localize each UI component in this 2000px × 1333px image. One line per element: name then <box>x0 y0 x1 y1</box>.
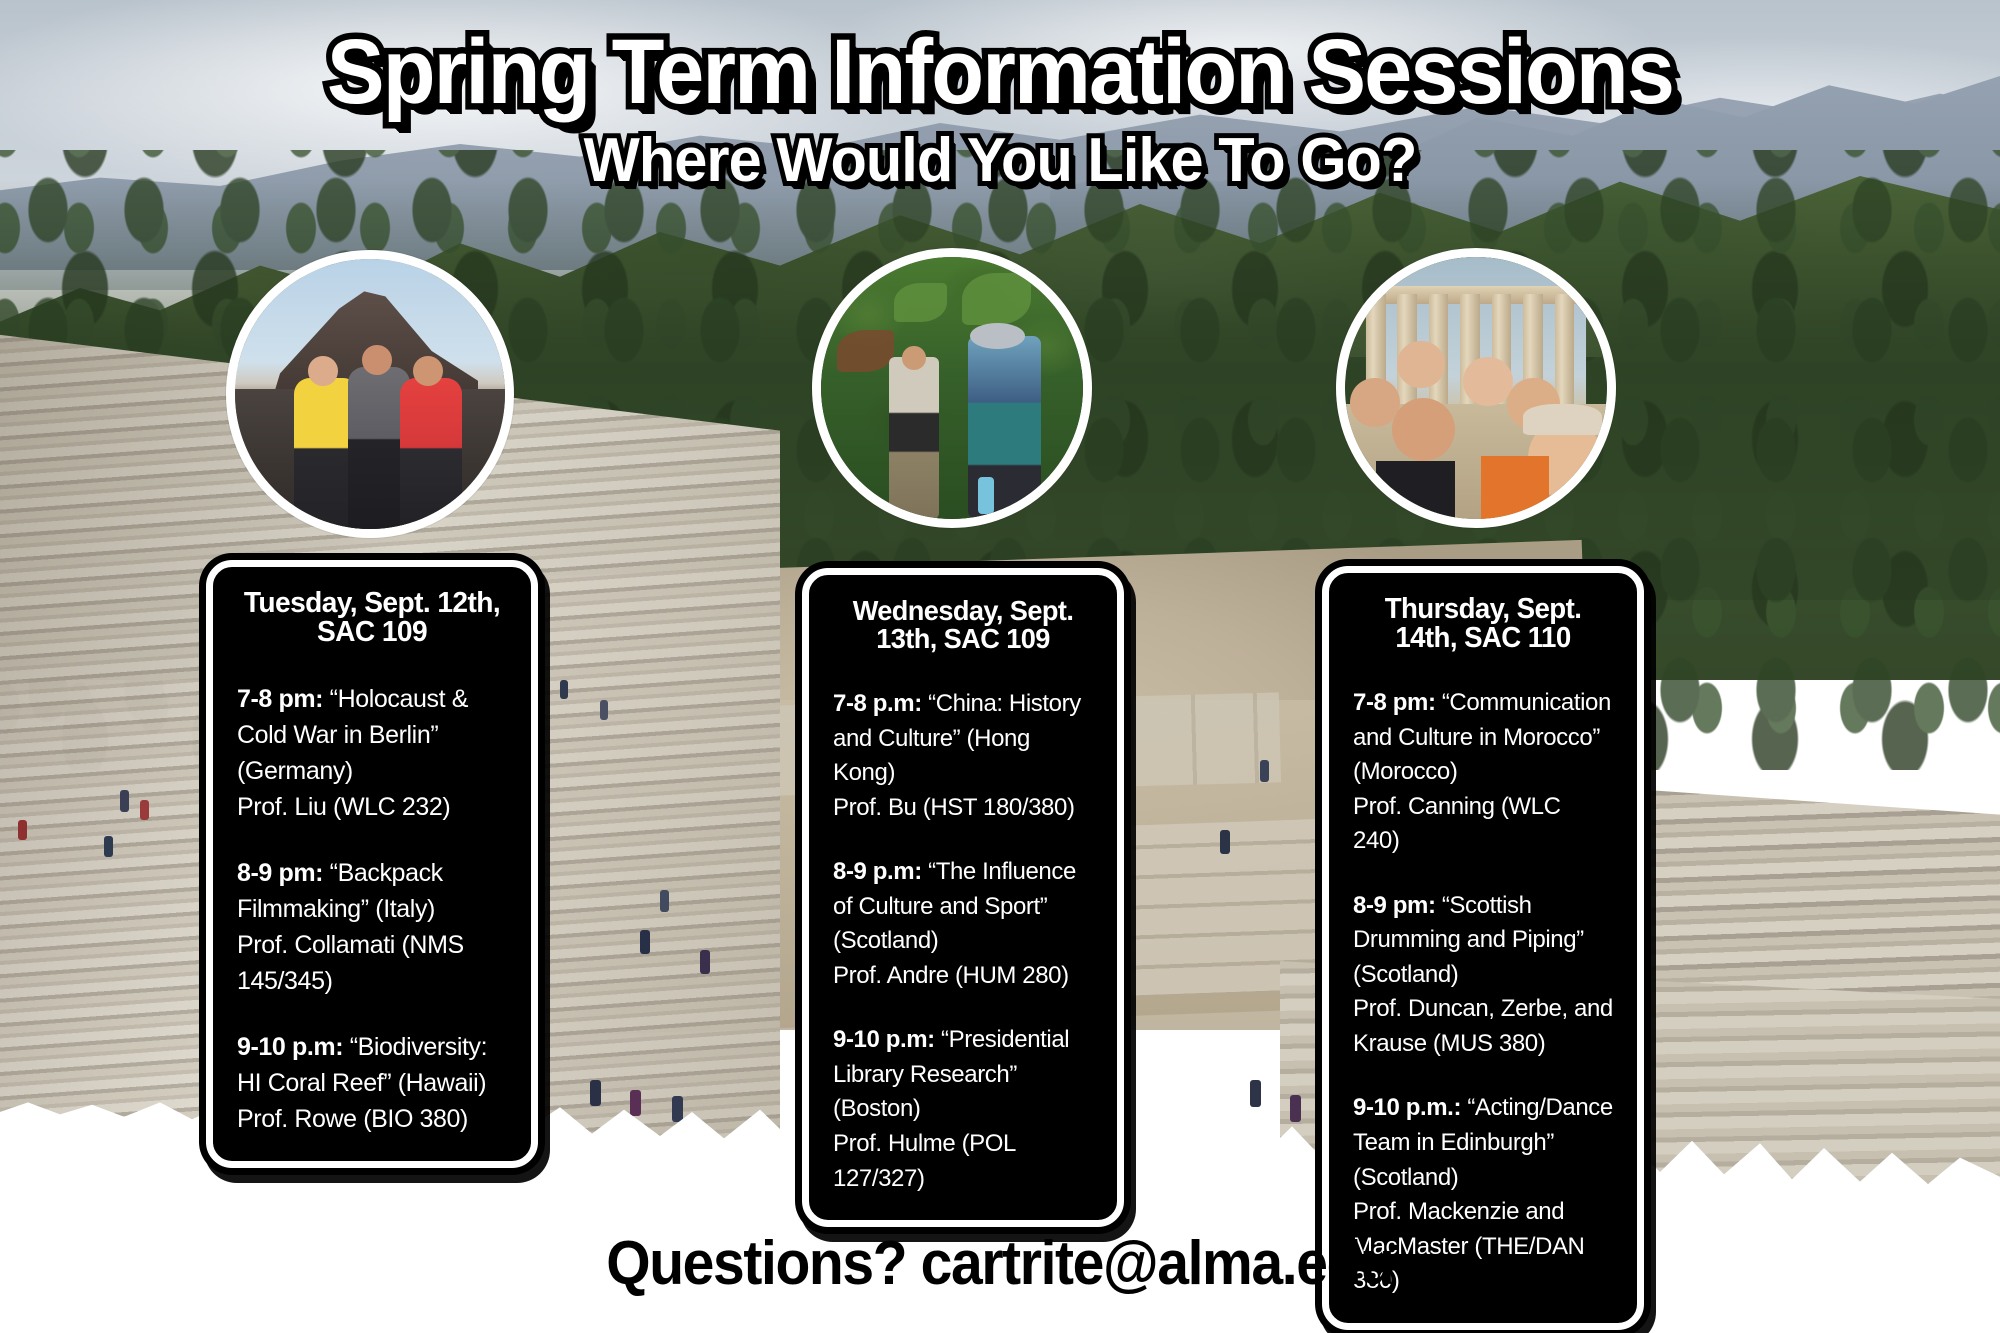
session-instructor: Prof. Canning (WLC 240) <box>1353 793 1561 855</box>
baseball-cap-icon <box>1523 404 1602 435</box>
jungle-photo-content <box>821 257 1083 519</box>
hiker-guide-head <box>902 346 926 370</box>
session-time: 9-10 p.m: <box>833 1026 935 1053</box>
session-time: 8-9 pm: <box>237 859 323 887</box>
session-card-wednesday: Wednesday, Sept. 13th, SAC 109 7-8 p.m: … <box>802 568 1124 1227</box>
student-figure-red <box>400 378 462 529</box>
hiker-guide-figure <box>889 357 939 519</box>
volcano-group-photo <box>226 250 514 538</box>
water-bottle-icon <box>978 477 994 514</box>
session-item: 9-10 p.m: “Biodiversity: HI Coral Reef” … <box>237 1029 507 1137</box>
student-head-1 <box>308 356 338 386</box>
session-instructor: Prof. Collamati (NMS 145/345) <box>237 931 464 995</box>
session-instructor: Prof. Rowe (BIO 380) <box>237 1105 468 1133</box>
visitor-figure <box>660 890 669 912</box>
session-item: 7-8 pm: “Holocaust & Cold War in Berlin”… <box>237 681 507 825</box>
visitor-figure <box>672 1096 683 1122</box>
session-time: 7-8 pm: <box>237 685 323 713</box>
selfie-person-head <box>1392 398 1455 461</box>
visitor-figure <box>700 950 710 974</box>
visitor-figure <box>1220 830 1230 854</box>
student-head-2 <box>362 345 392 375</box>
jungle-leaf <box>962 273 1030 325</box>
visitor-figure <box>630 1090 641 1116</box>
poster-canvas: Spring Term Information Sessions Where W… <box>0 0 2000 1333</box>
poster-title-block: Spring Term Information Sessions Where W… <box>0 26 2000 193</box>
selfie-person-head <box>1463 357 1513 407</box>
session-time: 7-8 p.m: <box>833 690 922 717</box>
hiker-sun-hat <box>970 323 1025 349</box>
card-heading-tuesday: Tuesday, Sept. 12th, SAC 109 <box>241 589 503 647</box>
visitor-figure <box>1260 760 1269 782</box>
session-card-tuesday: Tuesday, Sept. 12th, SAC 109 7-8 pm: “Ho… <box>206 560 538 1168</box>
jungle-foliage <box>821 257 1083 519</box>
session-item: 8-9 p.m: “The Influence of Culture and S… <box>833 855 1093 993</box>
page-subtitle: Where Would You Like To Go? <box>40 128 1960 193</box>
visitor-figure <box>18 820 27 840</box>
black-top <box>1376 461 1455 519</box>
temple-column <box>1555 294 1575 409</box>
session-time: 8-9 pm: <box>1353 892 1436 919</box>
visitor-figure <box>120 790 129 812</box>
visitor-figure <box>640 930 650 954</box>
jungle-hike-photo <box>812 248 1092 528</box>
student-head-3 <box>413 356 443 386</box>
session-time: 7-8 pm: <box>1353 689 1436 716</box>
footer-block: Questions? cartrite@alma.edu <box>0 1228 2000 1299</box>
session-item: 9-10 p.m: “Presidential Library Research… <box>833 1023 1093 1196</box>
volcano-photo-content <box>235 259 505 529</box>
session-item: 7-8 p.m: “China: History and Culture” (H… <box>833 687 1093 825</box>
session-item: 8-9 pm: “Backpack Filmmaking” (Italy) Pr… <box>237 855 507 999</box>
session-item: 8-9 pm: “Scottish Drumming and Piping” (… <box>1353 889 1613 1062</box>
page-title: Spring Term Information Sessions <box>60 26 1940 118</box>
card-heading-thursday: Thursday, Sept. 14th, SAC 110 <box>1357 595 1609 652</box>
session-instructor: Prof. Duncan, Zerbe, and Krause (MUS 380… <box>1353 995 1613 1057</box>
visitor-figure <box>140 800 149 820</box>
card-heading-wednesday: Wednesday, Sept. 13th, SAC 109 <box>837 597 1089 653</box>
visitor-figure <box>590 1080 601 1106</box>
session-instructor: Prof. Andre (HUM 280) <box>833 962 1069 989</box>
visitor-figure <box>104 836 113 857</box>
session-instructor: Prof. Liu (WLC 232) <box>237 793 450 821</box>
selfie-person-head <box>1397 341 1444 388</box>
session-item: 7-8 pm: “Communication and Culture in Mo… <box>1353 686 1613 859</box>
temple-photo-content <box>1345 257 1607 519</box>
visitor-figure <box>560 680 568 699</box>
session-time: 9-10 p.m: <box>237 1033 343 1061</box>
session-time: 9-10 p.m.: <box>1353 1094 1461 1121</box>
orange-shirt <box>1481 456 1549 519</box>
session-time: 8-9 p.m: <box>833 858 922 885</box>
contact-email-text: Questions? cartrite@alma.edu <box>606 1228 1393 1299</box>
session-instructor: Prof. Hulme (POL 127/327) <box>833 1130 1015 1192</box>
visitor-figure <box>1290 1095 1301 1122</box>
session-card-thursday: Thursday, Sept. 14th, SAC 110 7-8 pm: “C… <box>1322 566 1644 1330</box>
visitor-figure <box>1250 1080 1261 1107</box>
visitor-figure <box>600 700 608 720</box>
greek-temple-selfie-photo <box>1336 248 1616 528</box>
session-instructor: Prof. Bu (HST 180/380) <box>833 794 1075 821</box>
